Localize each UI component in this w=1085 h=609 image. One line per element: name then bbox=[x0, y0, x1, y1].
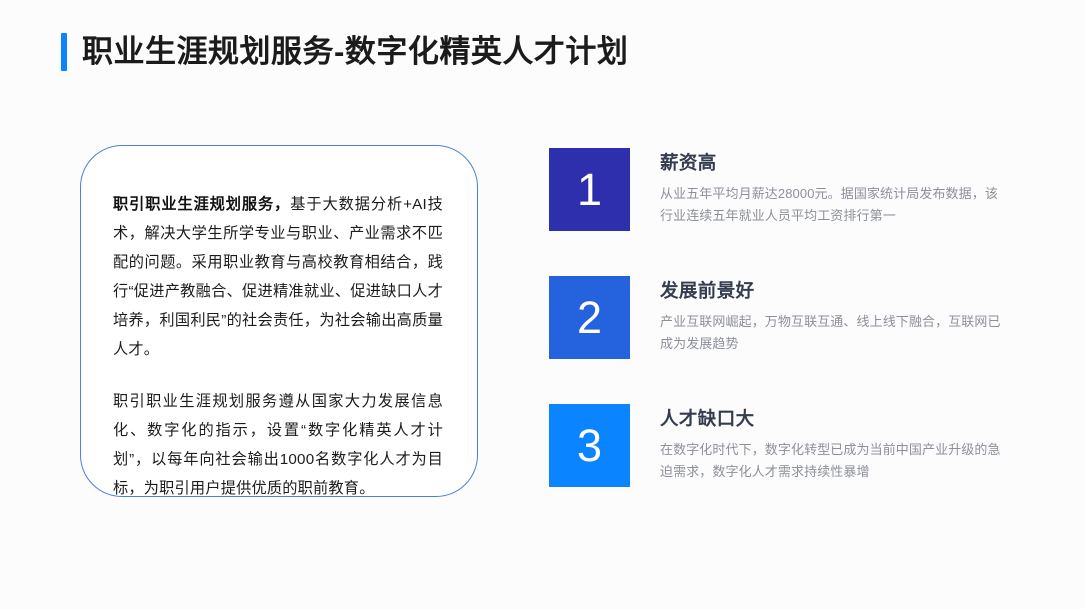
feature-desc-3: 在数字化时代下，数字化转型已成为当前中国产业升级的急迫需求，数字化人才需求持续性… bbox=[660, 439, 1009, 483]
info-card-paragraph-1-lead: 职引职业生涯规划服务， bbox=[113, 196, 290, 213]
feature-body-3: 人才缺口大 在数字化时代下，数字化转型已成为当前中国产业升级的急迫需求，数字化人… bbox=[630, 404, 1009, 483]
feature-desc-2: 产业互联网崛起，万物互联互通、线上线下融合，互联网已成为发展趋势 bbox=[660, 311, 1009, 355]
slide-root: 职业生涯规划服务-数字化精英人才计划 职引职业生涯规划服务，基于大数据分析+AI… bbox=[0, 0, 1085, 609]
feature-number-badge-1: 1 bbox=[549, 148, 630, 231]
feature-body-1: 薪资高 从业五年平均月薪达28000元。据国家统计局发布数据，该行业连续五年就业… bbox=[630, 148, 1009, 227]
info-card: 职引职业生涯规划服务，基于大数据分析+AI技术，解决大学生所学专业与职业、产业需… bbox=[80, 145, 478, 497]
info-card-paragraph-2: 职引职业生涯规划服务遵从国家大力发展信息化、数字化的指示，设置“数字化精英人才计… bbox=[113, 387, 443, 503]
page-title: 职业生涯规划服务-数字化精英人才计划 bbox=[61, 28, 628, 76]
title-text: 职业生涯规划服务-数字化精英人才计划 bbox=[82, 33, 628, 71]
feature-item-2[interactable]: 2 发展前景好 产业互联网崛起，万物互联互通、线上线下融合，互联网已成为发展趋势 bbox=[549, 276, 1009, 359]
feature-item-1[interactable]: 1 薪资高 从业五年平均月薪达28000元。据国家统计局发布数据，该行业连续五年… bbox=[549, 148, 1009, 231]
feature-item-3[interactable]: 3 人才缺口大 在数字化时代下，数字化转型已成为当前中国产业升级的急迫需求，数字… bbox=[549, 404, 1009, 487]
feature-number-badge-2: 2 bbox=[549, 276, 630, 359]
info-card-paragraph-1: 职引职业生涯规划服务，基于大数据分析+AI技术，解决大学生所学专业与职业、产业需… bbox=[113, 190, 443, 364]
feature-title-2: 发展前景好 bbox=[660, 278, 1009, 304]
feature-desc-1: 从业五年平均月薪达28000元。据国家统计局发布数据，该行业连续五年就业人员平均… bbox=[660, 183, 1009, 227]
feature-title-1: 薪资高 bbox=[660, 150, 1009, 176]
feature-body-2: 发展前景好 产业互联网崛起，万物互联互通、线上线下融合，互联网已成为发展趋势 bbox=[630, 276, 1009, 355]
feature-list: 1 薪资高 从业五年平均月薪达28000元。据国家统计局发布数据，该行业连续五年… bbox=[549, 148, 1009, 487]
feature-number-badge-3: 3 bbox=[549, 404, 630, 487]
title-accent-bar bbox=[61, 33, 67, 71]
feature-title-3: 人才缺口大 bbox=[660, 406, 1009, 432]
info-card-paragraph-1-body: 基于大数据分析+AI技术，解决大学生所学专业与职业、产业需求不匹配的问题。采用职… bbox=[113, 196, 443, 358]
